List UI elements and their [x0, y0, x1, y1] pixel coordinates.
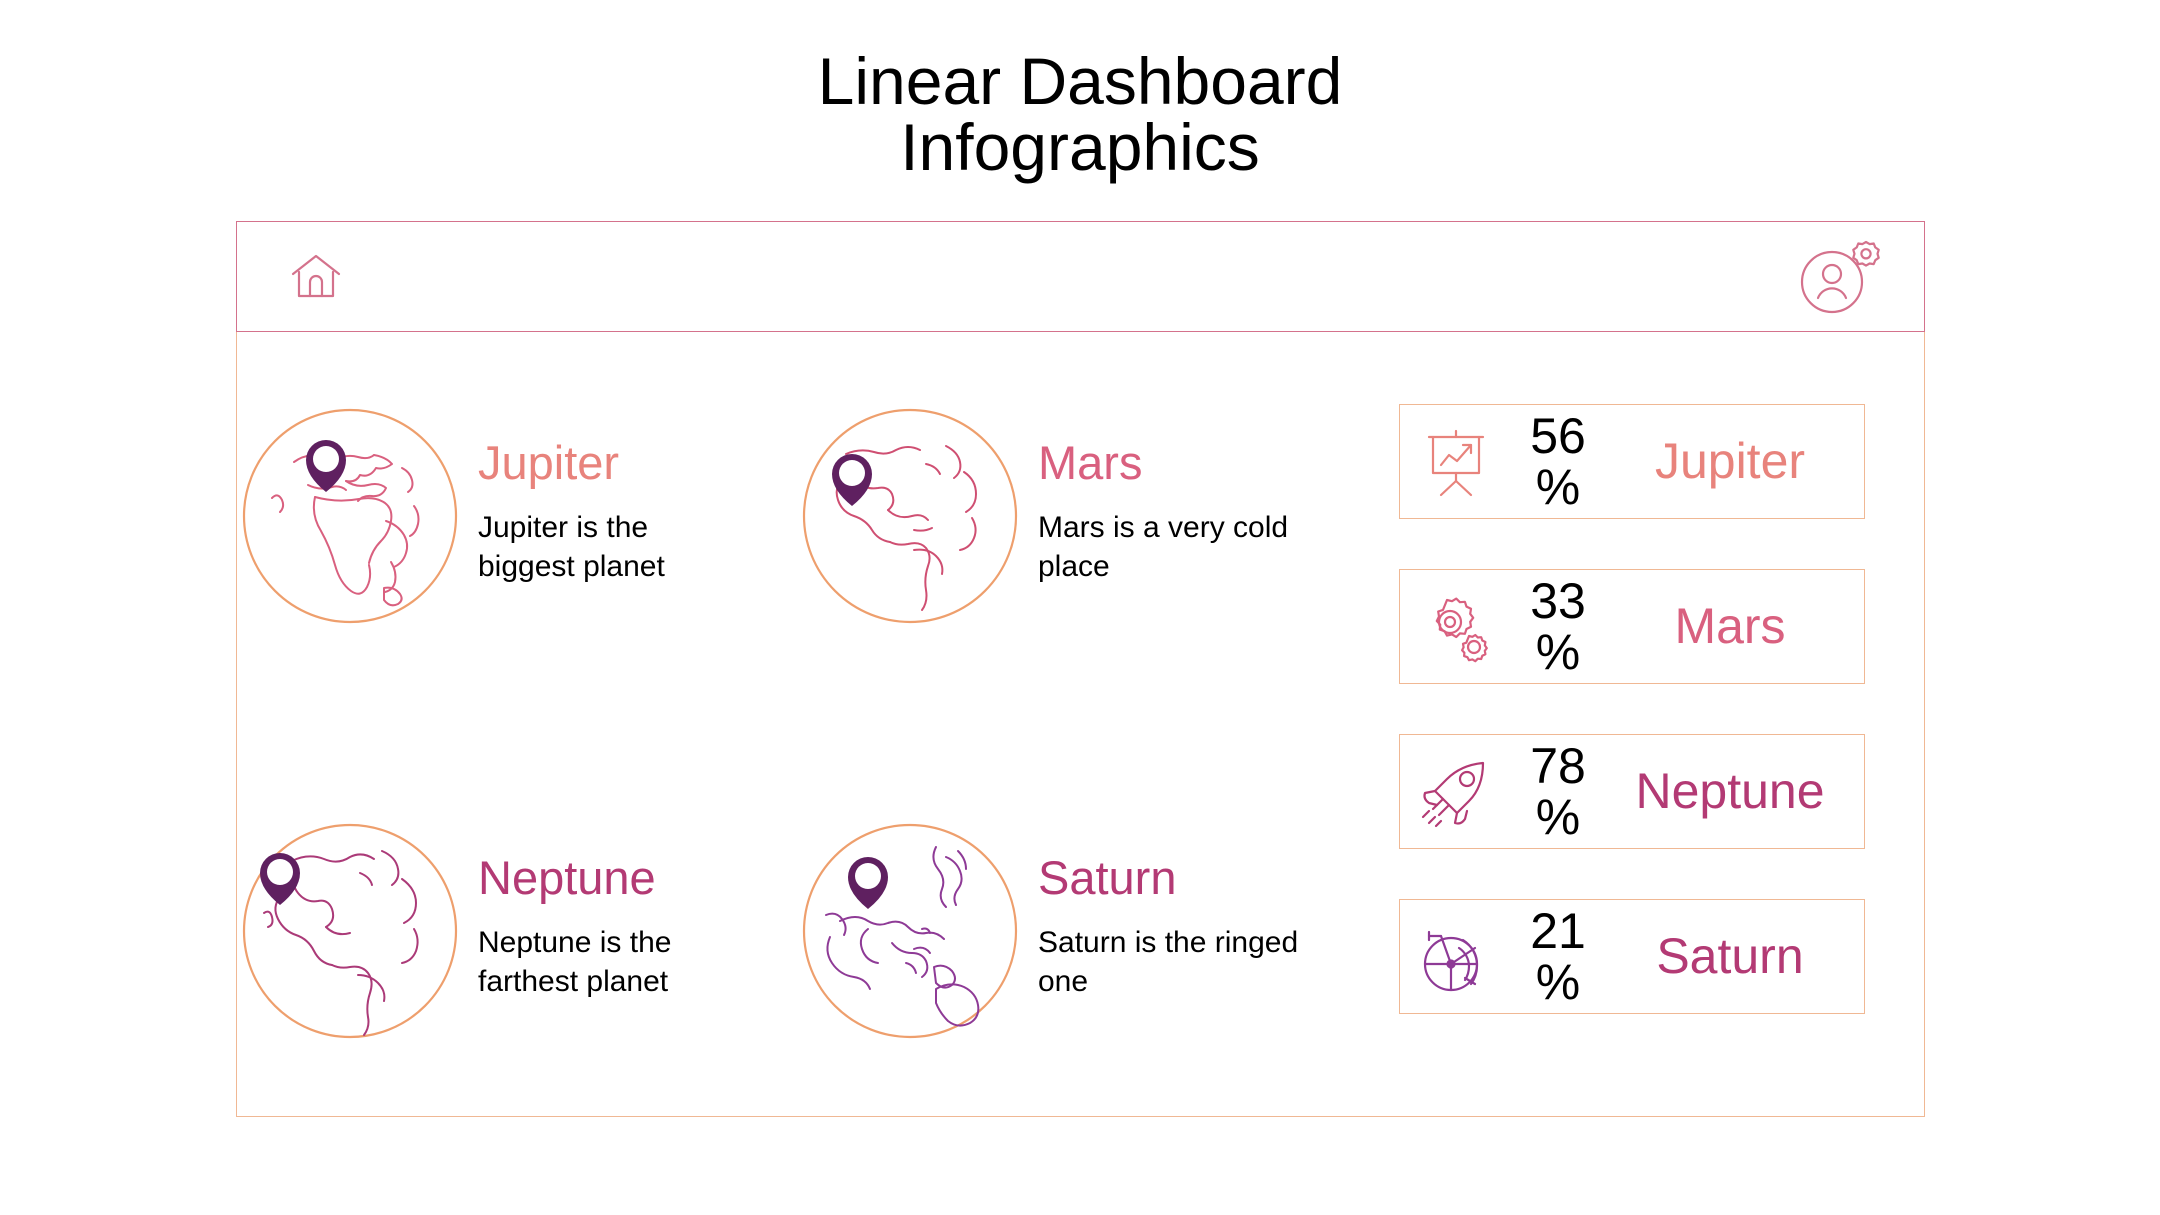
planet-text-block: Mars Mars is a very cold place [1038, 402, 1308, 586]
map-pin-icon [260, 853, 300, 905]
globe-icon [796, 402, 1024, 630]
planet-description: Jupiter is the biggest planet [478, 509, 748, 586]
planet-grid: Jupiter Jupiter is the biggest planet [236, 332, 1396, 1117]
page-title: Linear Dashboard Infographics [0, 48, 2160, 180]
stat-number: 78 [1530, 738, 1586, 794]
planet-item-saturn[interactable]: Saturn Saturn is the ringed one [796, 817, 1356, 1045]
stat-number: 33 [1530, 573, 1586, 629]
planet-item-neptune[interactable]: Neptune Neptune is the farthest planet [236, 817, 796, 1045]
stat-card-saturn[interactable]: 21 % Saturn [1399, 899, 1865, 1014]
stat-value: 33 % [1512, 576, 1604, 678]
stat-label: Neptune [1604, 766, 1864, 817]
stat-card-jupiter[interactable]: 56 % Jupiter [1399, 404, 1865, 519]
map-pin-icon [848, 857, 888, 909]
gears-icon [1400, 579, 1512, 675]
stat-unit: % [1536, 954, 1580, 1010]
map-pin-icon [306, 440, 346, 492]
planet-text-block: Saturn Saturn is the ringed one [1038, 817, 1308, 1001]
stat-unit: % [1536, 789, 1580, 845]
stat-unit: % [1536, 624, 1580, 680]
planet-text-block: Jupiter Jupiter is the biggest planet [478, 402, 748, 586]
stat-label: Saturn [1604, 931, 1864, 982]
stat-value: 78 % [1512, 741, 1604, 843]
stat-card-mars[interactable]: 33 % Mars [1399, 569, 1865, 684]
stat-unit: % [1536, 459, 1580, 515]
stat-card-list: 56 % Jupiter 33 % Mars [1399, 332, 1899, 1117]
stat-value: 56 % [1512, 411, 1604, 513]
stat-number: 21 [1530, 903, 1586, 959]
stat-number: 56 [1530, 408, 1586, 464]
stat-value: 21 % [1512, 906, 1604, 1008]
rocket-icon [1400, 744, 1512, 840]
planet-name: Saturn [1038, 853, 1308, 902]
planet-name: Mars [1038, 438, 1308, 487]
presentation-chart-icon [1400, 414, 1512, 510]
planet-description: Saturn is the ringed one [1038, 924, 1308, 1001]
stat-card-neptune[interactable]: 78 % Neptune [1399, 734, 1865, 849]
dashboard-header-bar [236, 221, 1925, 332]
gear-icon [1853, 242, 1878, 266]
planet-item-mars[interactable]: Mars Mars is a very cold place [796, 402, 1356, 630]
planet-name: Jupiter [478, 438, 748, 487]
planet-name: Neptune [478, 853, 748, 902]
stat-label: Mars [1604, 601, 1864, 652]
planet-text-block: Neptune Neptune is the farthest planet [478, 817, 748, 1001]
planet-description: Mars is a very cold place [1038, 509, 1308, 586]
globe-icon [236, 402, 464, 630]
pie-chart-icon [1400, 909, 1512, 1005]
planet-description: Neptune is the farthest planet [478, 924, 748, 1001]
globe-icon [796, 817, 1024, 1045]
home-icon[interactable] [289, 250, 343, 304]
user-account-icon[interactable] [1792, 238, 1884, 318]
globe-icon [236, 817, 464, 1045]
planet-item-jupiter[interactable]: Jupiter Jupiter is the biggest planet [236, 402, 796, 630]
stat-label: Jupiter [1604, 436, 1864, 487]
dashboard-frame: Jupiter Jupiter is the biggest planet [236, 221, 1925, 1117]
